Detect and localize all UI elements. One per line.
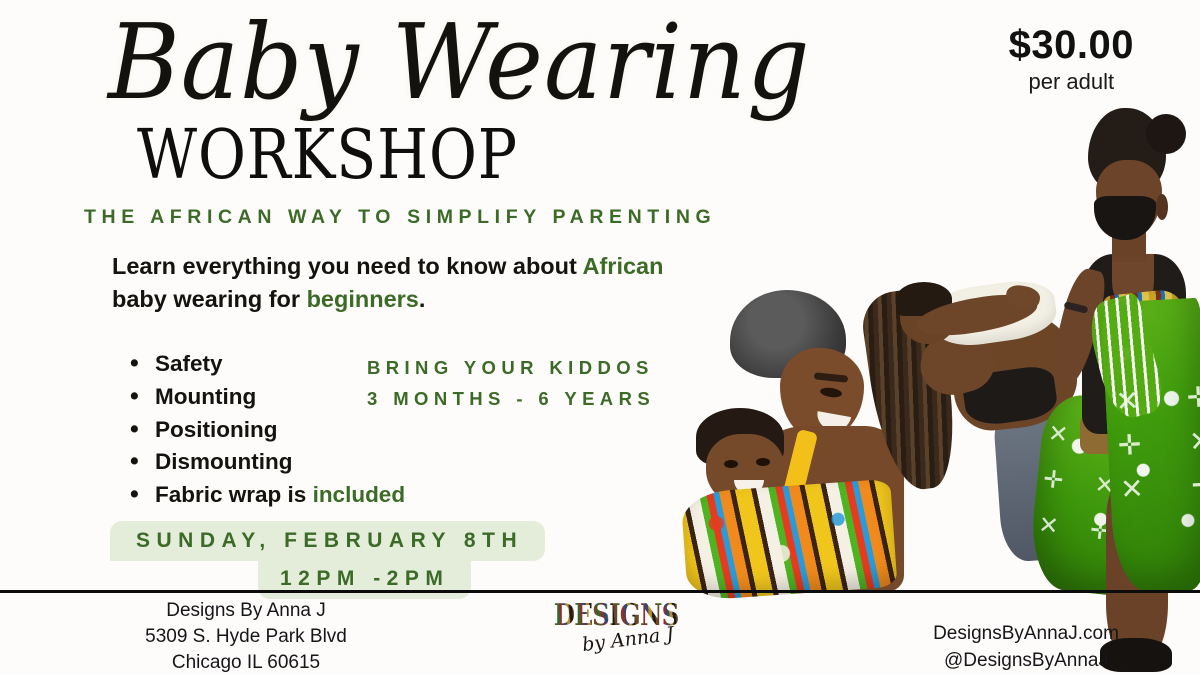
- bullet-label: Positioning: [155, 417, 278, 442]
- page-title-script: Baby Wearing: [108, 6, 810, 118]
- footer-address-block: Designs By Anna J 5309 S. Hyde Park Blvd…: [96, 598, 396, 675]
- list-item: Positioning: [128, 414, 405, 447]
- bullet-label: Mounting: [155, 384, 256, 409]
- subtitle-tagline: THE AFRICAN WAY TO SIMPLIFY PARENTING: [84, 206, 716, 229]
- list-item: Mounting: [128, 381, 405, 414]
- lead-text-part1: Learn everything you need to know about: [112, 253, 583, 279]
- flyer-canvas: Baby Wearing WORKSHOP THE AFRICAN WAY TO…: [0, 0, 1200, 675]
- kiddos-line-2: 3 MONTHS - 6 YEARS: [367, 383, 655, 414]
- list-item: Fabric wrap is included: [128, 479, 405, 512]
- brand-logo: DESIGNS by Anna J: [536, 600, 696, 670]
- lead-paragraph: Learn everything you need to know about …: [112, 250, 712, 316]
- social-handle[interactable]: @DesignsByAnnaJ: [876, 647, 1176, 674]
- price-amount: $30.00: [1009, 22, 1134, 68]
- footer-contact-block: DesignsByAnnaJ.com @DesignsByAnnaJ: [876, 620, 1176, 674]
- page-title-workshop: WORKSHOP: [137, 120, 518, 192]
- street-address: 5309 S. Hyde Park Blvd: [96, 624, 396, 650]
- business-name: Designs By Anna J: [96, 598, 396, 624]
- footer-divider: [0, 590, 1200, 593]
- list-item: Dismounting: [128, 446, 405, 479]
- bullet-label: Safety: [155, 351, 223, 376]
- bullet-highlight: included: [313, 482, 406, 507]
- lead-highlight-african: African: [583, 253, 664, 279]
- content-layer: Baby Wearing WORKSHOP THE AFRICAN WAY TO…: [0, 0, 1200, 675]
- city-state-zip: Chicago IL 60615: [96, 650, 396, 675]
- website-url[interactable]: DesignsByAnnaJ.com: [876, 620, 1176, 647]
- lead-text-part3: .: [419, 286, 426, 312]
- lead-highlight-beginners: beginners: [307, 286, 419, 312]
- event-date-badge: SUNDAY, FEBRUARY 8TH 12PM -2PM: [110, 521, 545, 599]
- kiddos-line-1: BRING YOUR KIDDOS: [367, 352, 655, 383]
- lead-text-part2: baby wearing for: [112, 286, 307, 312]
- age-range-note: BRING YOUR KIDDOS 3 MONTHS - 6 YEARS: [367, 352, 655, 414]
- bullet-label: Dismounting: [155, 449, 292, 474]
- list-item: Safety: [128, 348, 405, 381]
- event-time-line: 12PM -2PM: [258, 559, 471, 599]
- price-unit-label: per adult: [1009, 68, 1134, 96]
- topics-list: Safety Mounting Positioning Dismounting …: [128, 348, 405, 512]
- bullet-label: Fabric wrap is: [155, 482, 313, 507]
- price-block: $30.00 per adult: [1009, 22, 1134, 96]
- event-date-line: SUNDAY, FEBRUARY 8TH: [110, 521, 545, 561]
